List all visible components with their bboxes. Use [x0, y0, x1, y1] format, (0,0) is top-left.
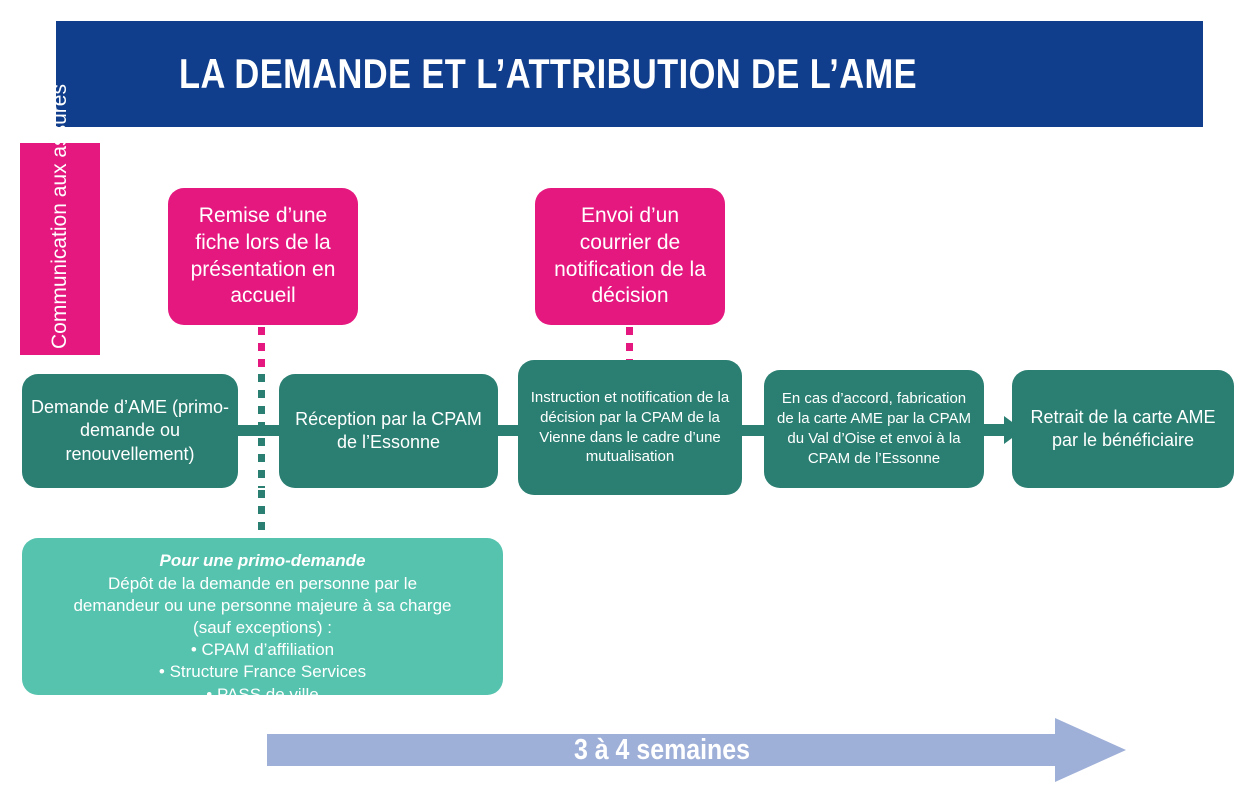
diagram-canvas: LA DEMANDE ET L’ATTRIBUTION DE L’AME Com…: [0, 0, 1249, 785]
connector-bar-1-2: [236, 425, 284, 436]
process-step-2: Réception par la CPAM de l’Essonne: [279, 374, 498, 488]
dotted-connector-1-green-lower: [258, 490, 265, 538]
detail-box-title: Pour une primo-demande: [30, 550, 495, 572]
detail-box-bullet-1: • CPAM d’affiliation: [30, 639, 495, 661]
title-banner: LA DEMANDE ET L’ATTRIBUTION DE L’AME: [56, 21, 1203, 127]
process-step-3-text: Instruction et notification de la décisi…: [526, 388, 734, 467]
communication-box-2: Envoi d’un courrier de notification de l…: [535, 188, 725, 325]
communication-side-label-text: Communication aux assurés: [47, 149, 73, 349]
detail-box-bullet-2: • Structure France Services: [30, 661, 495, 683]
detail-box-line-1: Dépôt de la demande en personne par le: [30, 573, 495, 595]
page-title: LA DEMANDE ET L’ATTRIBUTION DE L’AME: [179, 50, 917, 98]
duration-arrow: 3 à 4 semaines: [267, 718, 1127, 782]
communication-side-label: Communication aux assurés: [20, 143, 100, 355]
process-step-5: Retrait de la carte AME par le bénéficia…: [1012, 370, 1234, 488]
detail-box-line-2: demandeur ou une personne majeure à sa c…: [30, 595, 495, 617]
communication-box-2-text: Envoi d’un courrier de notification de l…: [543, 203, 717, 311]
dotted-connector-1-pink: [258, 327, 265, 371]
process-step-1: Demande d’AME (primo-demande ou renouvel…: [22, 374, 238, 488]
dotted-connector-2-pink: [626, 327, 633, 360]
communication-box-1: Remise d’une fiche lors de la présentati…: [168, 188, 358, 325]
detail-box-primo-demande: Pour une primo-demande Dépôt de la deman…: [22, 538, 503, 695]
process-step-3: Instruction et notification de la décisi…: [518, 360, 742, 495]
process-step-2-text: Réception par la CPAM de l’Essonne: [287, 408, 490, 455]
process-step-4: En cas d’accord, fabrication de la carte…: [764, 370, 984, 488]
communication-box-1-text: Remise d’une fiche lors de la présentati…: [176, 203, 350, 311]
duration-label: 3 à 4 semaines: [322, 718, 1001, 782]
detail-box-line-3: (sauf exceptions) :: [30, 617, 495, 639]
process-step-4-text: En cas d’accord, fabrication de la carte…: [772, 389, 976, 468]
process-step-5-text: Retrait de la carte AME par le bénéficia…: [1020, 406, 1226, 453]
detail-box-bullet-3: • PASS de ville: [30, 684, 495, 706]
process-step-1-text: Demande d’AME (primo-demande ou renouvel…: [30, 396, 230, 466]
